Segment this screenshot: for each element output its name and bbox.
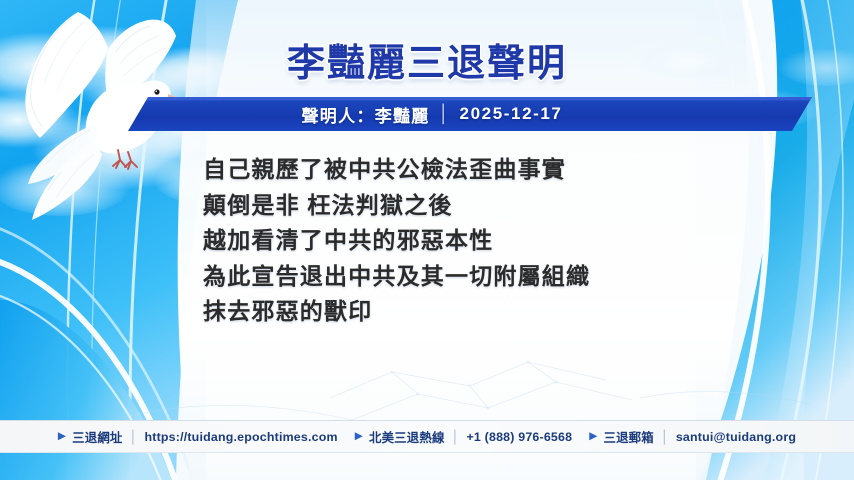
declaration-date: 2025-12-17 bbox=[460, 104, 563, 124]
page-title: 李豔麗三退聲明 bbox=[287, 44, 567, 85]
statement-line: 抹去邪惡的獸印 bbox=[203, 294, 823, 330]
statement-line: 為此宣告退出中共及其一切附屬組織 bbox=[203, 259, 823, 295]
statement-line: 自己親歷了被中共公檢法歪曲事實 bbox=[203, 152, 823, 188]
footer-item-email: ▶ 三退郵箱 │ santui@tuidang.org bbox=[589, 428, 796, 446]
footer-label-website: 三退網址 bbox=[72, 428, 122, 446]
triangle-marker-icon: ▶ bbox=[589, 431, 597, 442]
footer-label-hotline: 北美三退熱線 bbox=[369, 428, 445, 446]
declarant-name: 李豔麗 bbox=[375, 102, 430, 127]
title-container: 李豔麗三退聲明 bbox=[0, 44, 854, 85]
footer-item-hotline: ▶ 北美三退熱線 │ +1 (888) 976-6568 bbox=[355, 428, 572, 446]
triangle-marker-icon: ▶ bbox=[355, 431, 363, 442]
triangle-marker-icon: ▶ bbox=[58, 431, 66, 442]
footer-value-email-address[interactable]: santui@tuidang.org bbox=[676, 430, 796, 444]
footer-content: ▶ 三退網址 │ https://tuidang.epochtimes.com … bbox=[58, 428, 796, 446]
statement-line: 越加看清了中共的邪惡本性 bbox=[203, 223, 823, 259]
subtitle-separator: │ bbox=[439, 104, 451, 124]
footer-value-hotline-number[interactable]: +1 (888) 976-6568 bbox=[467, 430, 573, 444]
footer-divider: │ bbox=[130, 430, 138, 444]
slide-canvas: 李豔麗三退聲明 聲明人： 李豔麗 │ 2025-12-17 自己親歷了被中共公檢… bbox=[0, 0, 854, 480]
footer-divider: │ bbox=[661, 430, 669, 444]
statement-body: 自己親歷了被中共公檢法歪曲事實 顛倒是非 枉法判獄之後 越加看清了中共的邪惡本性… bbox=[203, 152, 823, 330]
footer-label-email: 三退郵箱 bbox=[603, 428, 653, 446]
subtitle-text-row: 聲明人： 李豔麗 │ 2025-12-17 bbox=[0, 97, 854, 131]
footer-divider: │ bbox=[452, 430, 460, 444]
footer-bar: ▶ 三退網址 │ https://tuidang.epochtimes.com … bbox=[0, 420, 854, 453]
subtitle-band: 聲明人： 李豔麗 │ 2025-12-17 bbox=[0, 97, 854, 131]
declarant-label: 聲明人： bbox=[301, 102, 374, 127]
statement-line: 顛倒是非 枉法判獄之後 bbox=[203, 188, 823, 224]
footer-item-website: ▶ 三退網址 │ https://tuidang.epochtimes.com bbox=[58, 428, 338, 446]
footer-value-website-url[interactable]: https://tuidang.epochtimes.com bbox=[144, 430, 337, 444]
